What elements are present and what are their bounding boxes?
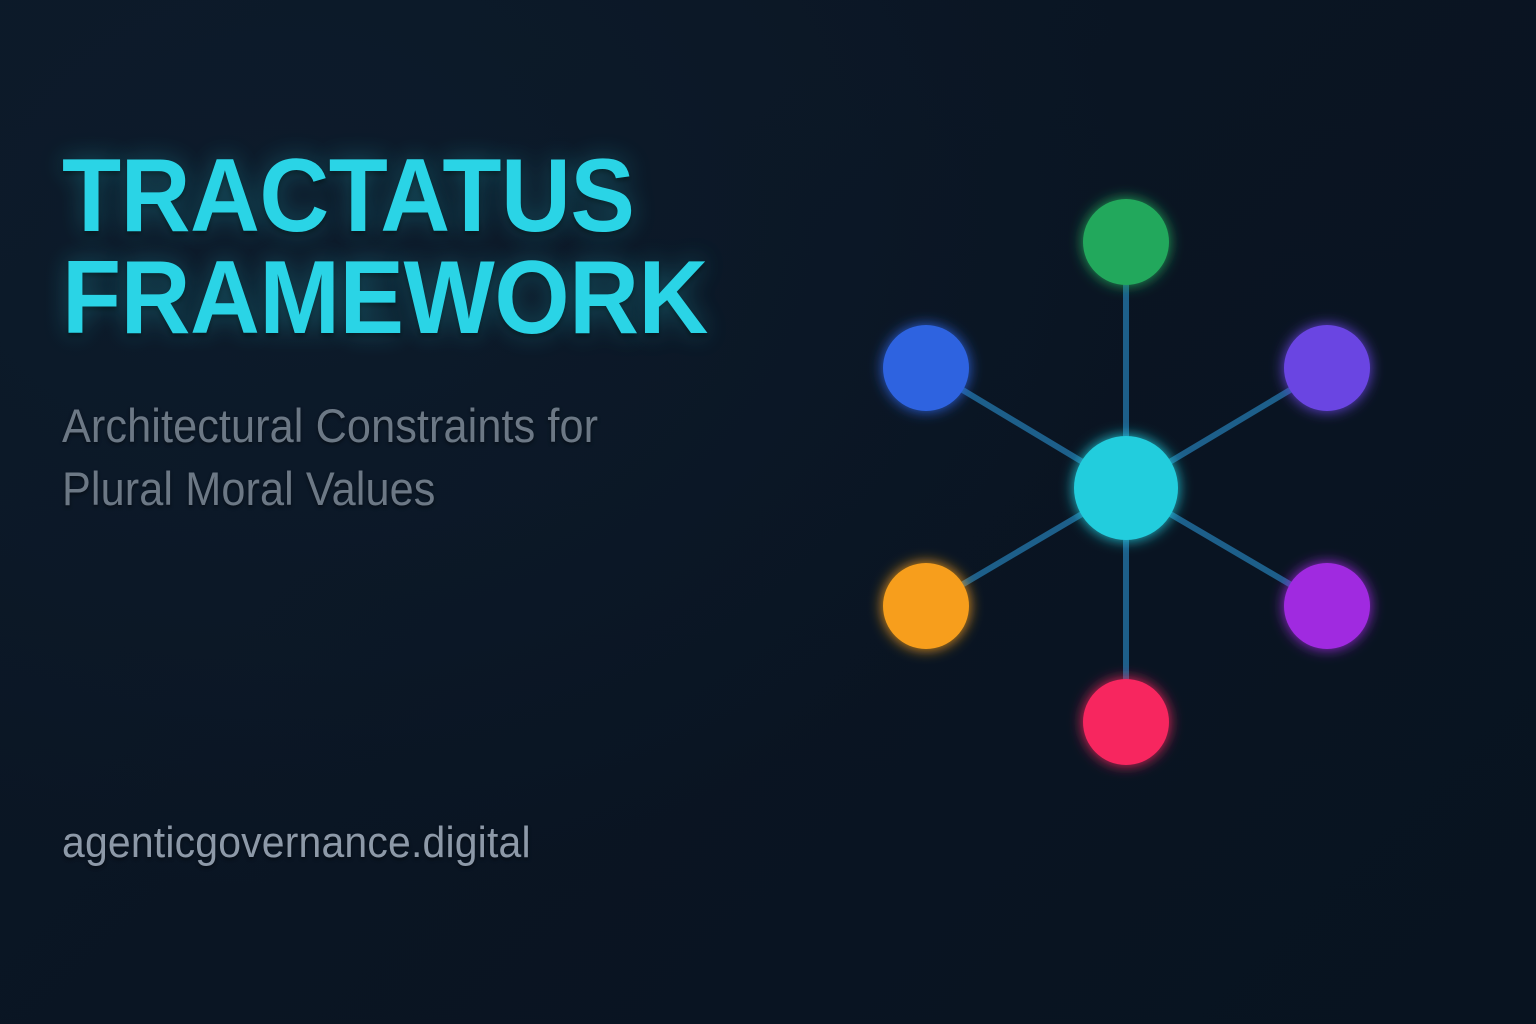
site-url[interactable]: agenticgovernance.digital: [62, 818, 531, 868]
title-card: TRACTATUS FRAMEWORK Architectural Constr…: [0, 0, 1536, 1024]
center-node[interactable]: [1074, 436, 1178, 540]
node-lower-left-orange[interactable]: [883, 563, 969, 649]
node-bottom-pink[interactable]: [1083, 679, 1169, 765]
node-upper-right-violet[interactable]: [1284, 325, 1370, 411]
diagram-nodes: [883, 199, 1370, 765]
title-line-2: FRAMEWORK: [62, 248, 787, 350]
title-line-1: TRACTATUS: [62, 146, 787, 248]
node-top-green[interactable]: [1083, 199, 1169, 285]
node-upper-left-blue[interactable]: [883, 325, 969, 411]
page-title: TRACTATUS FRAMEWORK: [62, 146, 787, 350]
subtitle-line-1: Architectural Constraints for: [62, 394, 780, 457]
headline-block: TRACTATUS FRAMEWORK Architectural Constr…: [62, 146, 842, 521]
node-lower-right-purple[interactable]: [1284, 563, 1370, 649]
page-subtitle: Architectural Constraints for Plural Mor…: [62, 350, 780, 521]
subtitle-line-2: Plural Moral Values: [62, 457, 780, 520]
